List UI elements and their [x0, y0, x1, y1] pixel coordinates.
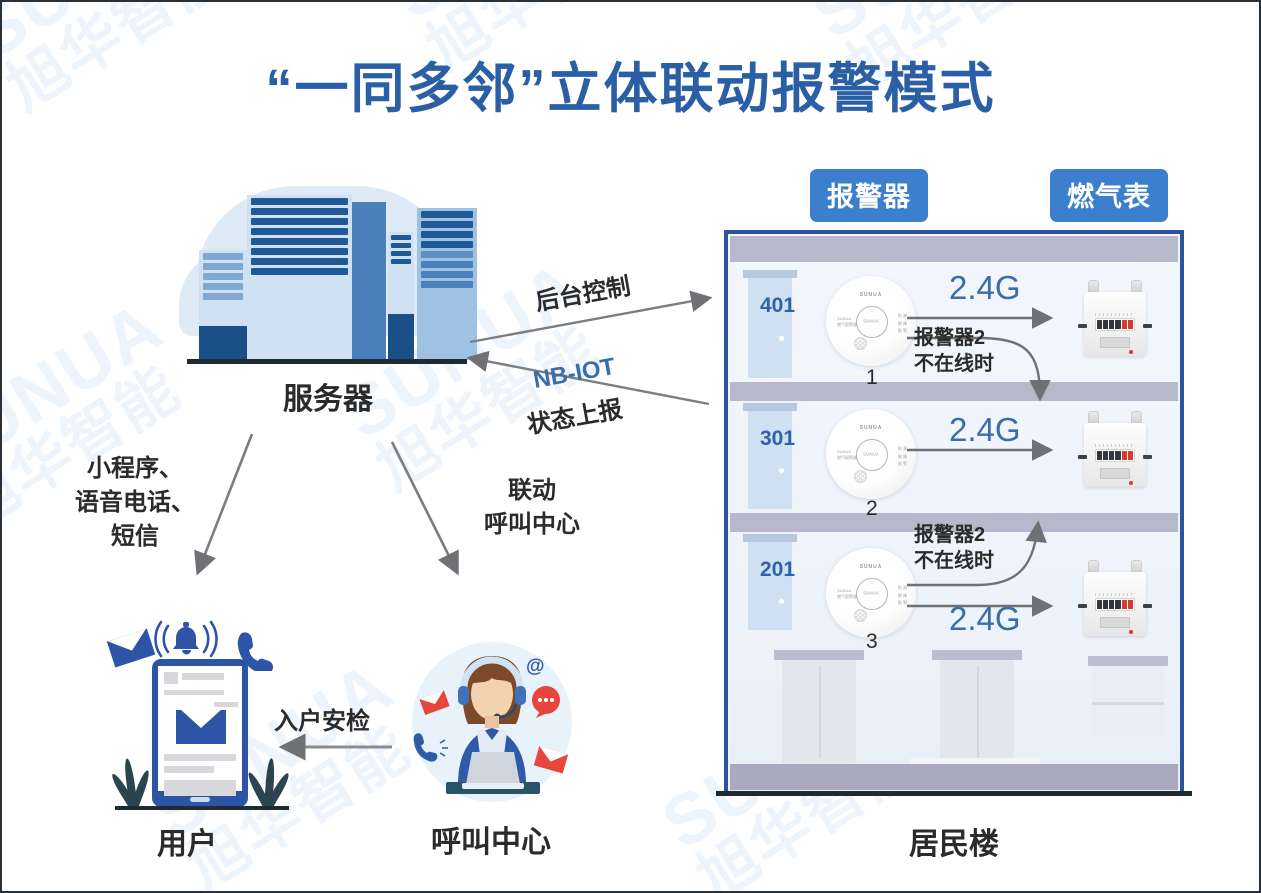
rf-label-301: 2.4G	[949, 411, 1021, 449]
fallback-note-201-line1: 报警器2	[914, 523, 985, 548]
label-link-callcenter-2: 呼叫中心	[484, 510, 580, 540]
server-label: 服务器	[283, 374, 373, 418]
label-notify-line-1: 小程序、	[87, 454, 183, 484]
label-link-callcenter-1: 联动	[508, 476, 556, 506]
fallback-note-401-line1: 报警器2	[914, 326, 985, 351]
arrow-server-to-callcenter	[392, 442, 457, 572]
rf-label-401: 2.4G	[949, 269, 1021, 307]
fallback-note-401-line2: 不在线时	[914, 352, 994, 377]
badge-alarm: 报警器	[810, 169, 928, 222]
connector-arrows	[2, 2, 1261, 893]
call-center-label: 呼叫中心	[431, 817, 551, 861]
fallback-note-201-line2: 不在线时	[914, 549, 994, 574]
user-label: 用户	[157, 819, 217, 863]
label-inspection: 入户安检	[274, 707, 370, 737]
building-label: 居民楼	[909, 819, 999, 863]
label-notify-line-3: 短信	[111, 522, 159, 552]
label-notify-line-2: 语音电话、	[75, 488, 195, 518]
arrow-server-to-user	[198, 434, 252, 572]
rf-label-201: 2.4G	[949, 600, 1021, 638]
diagram-canvas: SUNUA旭华智能 SUNUA旭华智能 SUNUA旭华智能 SUNUA旭华智能 …	[0, 0, 1261, 893]
page-title: “一同多邻”立体联动报警模式	[2, 44, 1259, 123]
badge-gas-meter: 燃气表	[1050, 169, 1168, 222]
